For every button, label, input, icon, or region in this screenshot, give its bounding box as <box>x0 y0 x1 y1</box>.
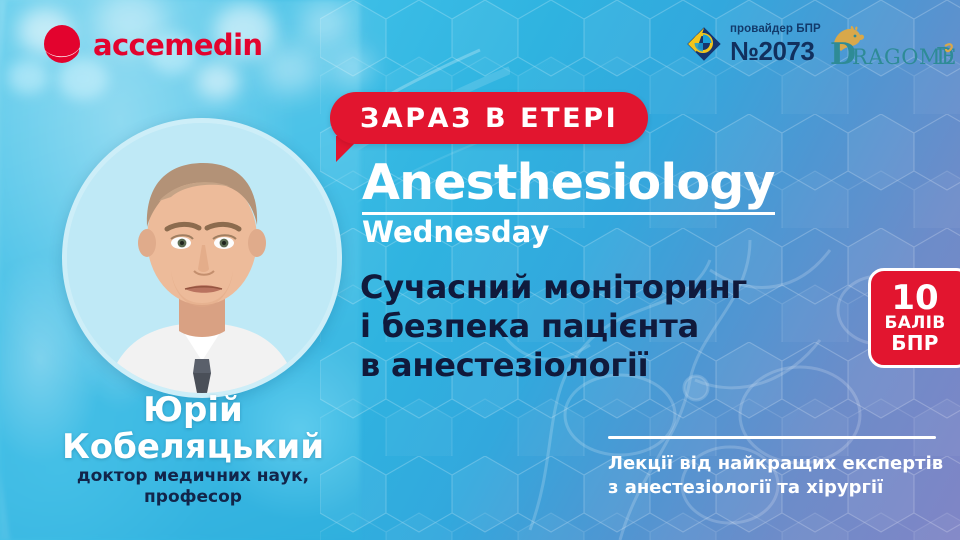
title-ua-line-3: в анестезіології <box>360 346 747 385</box>
live-now-banner[interactable]: ЗАРАЗ В ЕТЕРІ <box>330 92 648 144</box>
title-english: Anesthesiology <box>362 158 775 215</box>
points-unit-label: БАЛІВ <box>884 315 945 333</box>
speaker-last-name: Кобеляцький <box>0 429 386 466</box>
points-number: 10 <box>891 282 938 314</box>
accemedin-wordmark: accemedin <box>93 28 262 62</box>
speaker-role-line-2: професор <box>0 487 386 508</box>
bpr-provider-number: №2073 <box>730 38 821 64</box>
speaker-role-line-1: доктор медичних наук, <box>0 466 386 487</box>
title-ukrainian: Сучасний моніторинг і безпека пацієнта в… <box>360 268 747 385</box>
speaker-role: доктор медичних наук, професор <box>0 466 386 509</box>
bpr-shield-icon <box>686 26 722 62</box>
accemedin-mark-icon <box>40 23 84 67</box>
points-system-label: БПР <box>891 333 939 354</box>
speaker-portrait <box>62 118 342 398</box>
bokeh-7 <box>196 62 240 100</box>
accemedin-logo[interactable]: accemedin <box>40 23 262 67</box>
footer-tagline: Лекції від найкращих експертів з анестез… <box>608 452 953 501</box>
title-ua-line-1: Сучасний моніторинг <box>360 268 747 307</box>
speaker-name: Юрій Кобеляцький <box>0 392 386 465</box>
bokeh-5 <box>262 44 320 94</box>
title-ua-line-2: і безпека пацієнта <box>360 307 747 346</box>
footer-tagline-line-1: Лекції від найкращих експертів <box>608 452 953 476</box>
bpr-provider-badge: провайдер БПР №2073 <box>686 24 821 64</box>
bpr-provider-label: провайдер БПР <box>730 24 821 36</box>
webinar-poster: accemedin провайдер БПР №2073 <box>0 0 960 540</box>
title-weekday: Wednesday <box>362 218 549 247</box>
points-badge: 10 БАЛІВ БПР <box>868 268 960 368</box>
footer-divider <box>608 436 936 439</box>
dragomed-logo[interactable]: D RAGOME D DRAGOMED <box>818 26 958 70</box>
live-now-label: ЗАРАЗ В ЕТЕРІ <box>360 103 618 134</box>
footer-tagline-line-2: з анестезіології та хірургії <box>608 476 953 500</box>
speaker-first-name: Юрій <box>0 392 386 429</box>
